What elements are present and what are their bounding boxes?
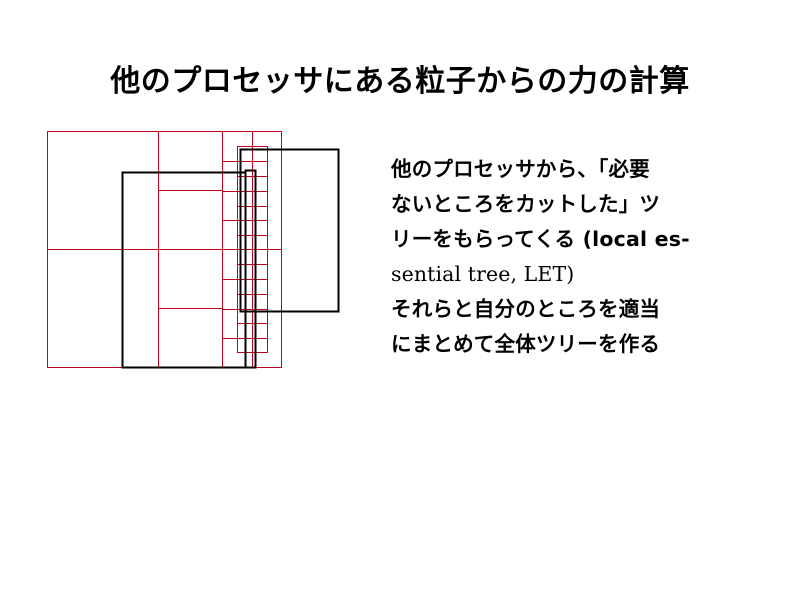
tree-cell bbox=[159, 309, 223, 368]
body-line-3: リーをもらってくる (local es- bbox=[391, 222, 751, 257]
body-line-6: にまとめて全体ツリーを作る bbox=[391, 327, 751, 362]
remote-essential-boxes-black bbox=[123, 150, 339, 368]
tree-cell bbox=[159, 250, 223, 309]
local-tree-red-cells bbox=[48, 132, 282, 368]
tree-cell bbox=[48, 250, 159, 368]
body-line-4: sential tree, LET) bbox=[391, 257, 751, 292]
body-text-block: 他のプロセッサから、「必要 ないところをカットした」ツ リーをもらってくる (l… bbox=[391, 152, 751, 362]
tree-cell bbox=[159, 132, 223, 191]
tree-cell bbox=[159, 191, 223, 250]
body-line-5: それらと自分のところを適当 bbox=[391, 292, 751, 327]
body-line-2: ないところをカットした」ツ bbox=[391, 187, 751, 222]
local-essential-tree-diagram bbox=[0, 0, 400, 420]
slide-canvas: 他のプロセッサにある粒子からの力の計算 他のプロセッサから、「必要 ないところを… bbox=[0, 0, 800, 600]
tree-cell bbox=[48, 132, 159, 250]
body-line-1: 他のプロセッサから、「必要 bbox=[391, 152, 751, 187]
